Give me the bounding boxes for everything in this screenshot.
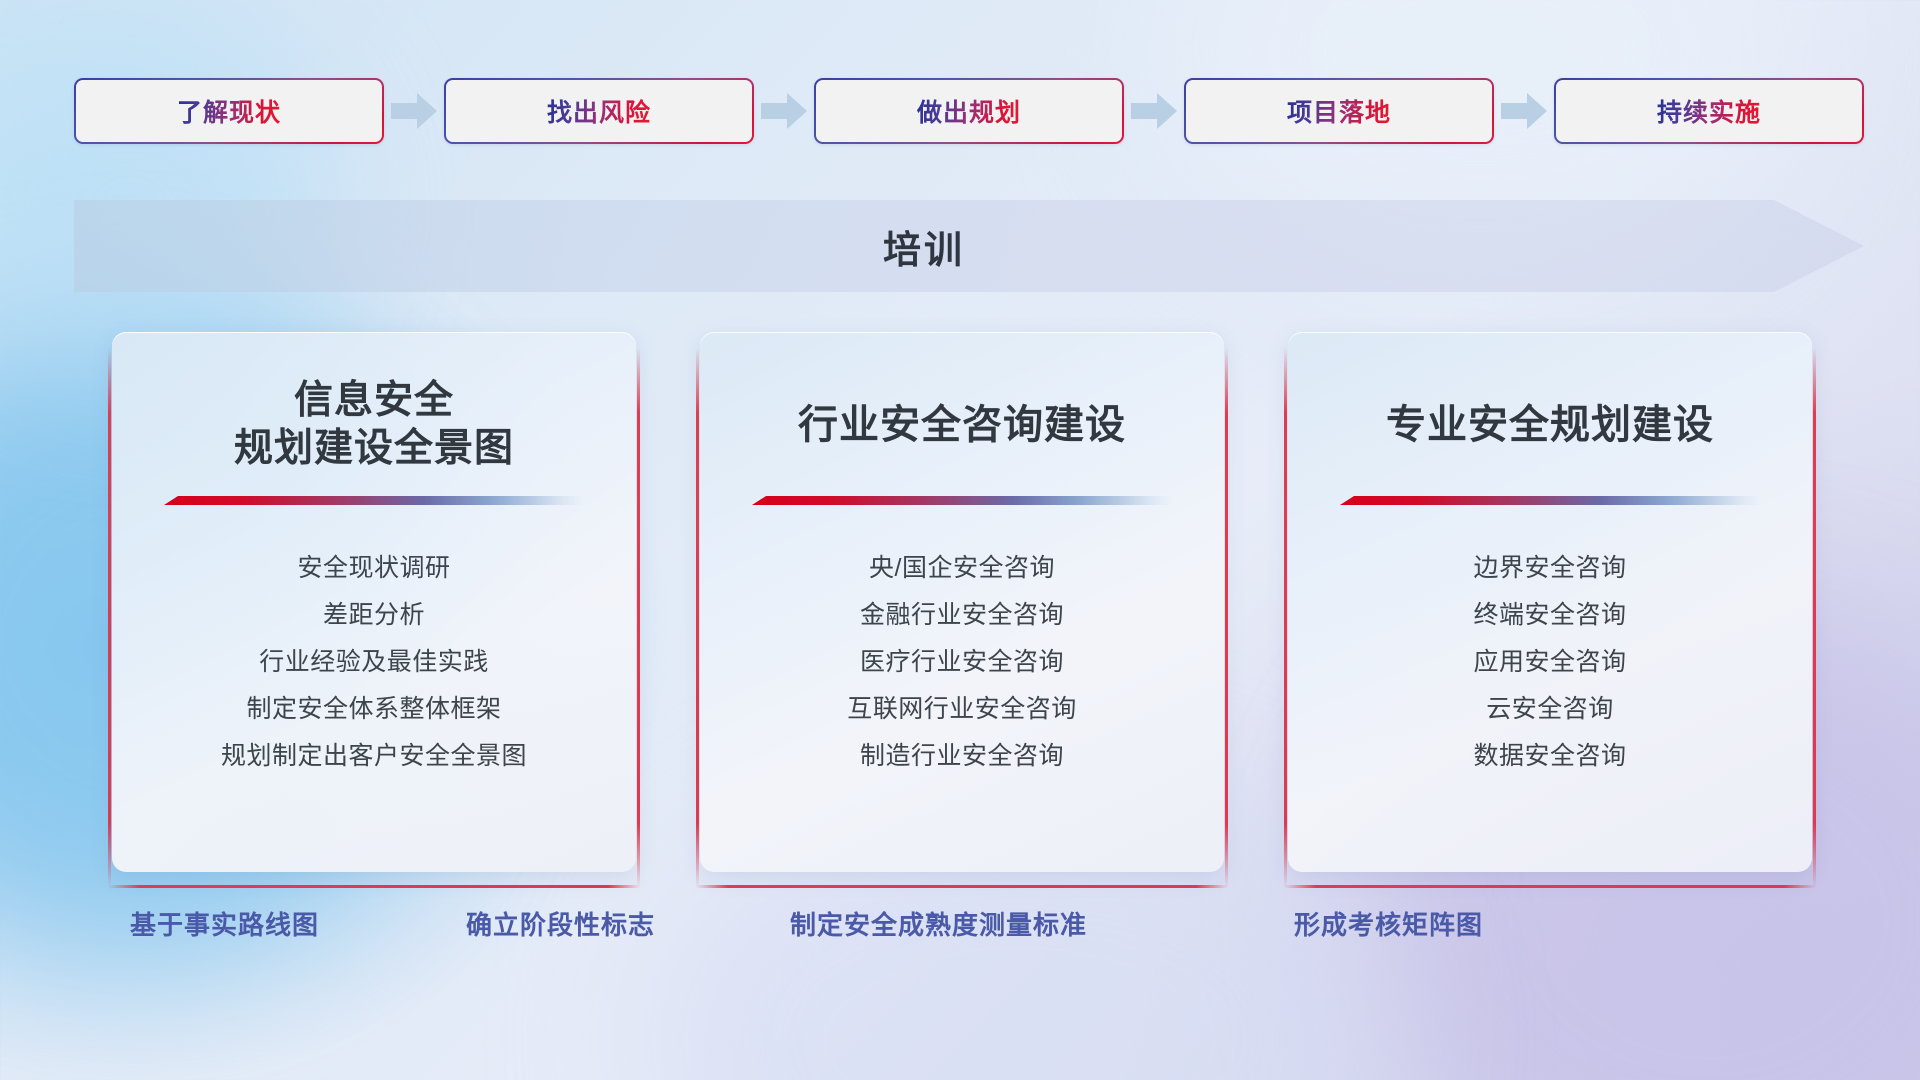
card-3[interactable]: 专业安全规划建设 边界安全咨询 终端安全咨询 应用安全咨询 云安全咨询 数据安全…: [1288, 332, 1812, 872]
card-2-divider: [752, 496, 1172, 505]
list-item: 金融行业安全咨询: [734, 592, 1190, 639]
list-item: 行业经验及最佳实践: [146, 639, 602, 686]
card-3-title-line-1: 专业安全规划建设: [1322, 401, 1778, 450]
caption-3: 制定安全成熟度测量标准: [790, 905, 1087, 942]
step-label-5: 持续实施: [1657, 93, 1761, 129]
step-box-4[interactable]: 项目落地: [1184, 78, 1494, 144]
list-item: 差距分析: [146, 592, 602, 639]
list-item: 制定安全体系整体框架: [146, 686, 602, 733]
list-item: 数据安全咨询: [1322, 733, 1778, 780]
arrow-right-icon: [1131, 93, 1177, 129]
card-1-title-line-1: 信息安全: [146, 377, 602, 425]
card-1-title-line-2: 规划建设全景图: [146, 425, 602, 473]
step-arrow-2: [754, 93, 814, 129]
arrow-right-icon: [1501, 93, 1547, 129]
card-3-list: 边界安全咨询 终端安全咨询 应用安全咨询 云安全咨询 数据安全咨询: [1322, 545, 1778, 780]
list-item: 规划制定出客户安全全景图: [146, 733, 602, 780]
step-box-5[interactable]: 持续实施: [1554, 78, 1864, 144]
caption-row: 基于事实路线图 确立阶段性标志 制定安全成熟度测量标准 形成考核矩阵图: [0, 905, 1920, 955]
step-box-2[interactable]: 找出风险: [444, 78, 754, 144]
card-3-divider: [1340, 496, 1760, 505]
list-item: 安全现状调研: [146, 545, 602, 592]
card-2-title: 行业安全咨询建设: [734, 372, 1190, 478]
list-item: 医疗行业安全咨询: [734, 639, 1190, 686]
card-2[interactable]: 行业安全咨询建设 央/国企安全咨询 金融行业安全咨询 医疗行业安全咨询 互联网行…: [700, 332, 1224, 872]
step-arrow-1: [384, 93, 444, 129]
step-arrow-3: [1124, 93, 1184, 129]
training-banner: 培训: [74, 200, 1864, 292]
step-label-3: 做出规划: [917, 93, 1021, 129]
caption-4: 形成考核矩阵图: [1294, 905, 1483, 942]
card-1-bottom-edge: [108, 885, 640, 888]
card-3-title: 专业安全规划建设: [1322, 372, 1778, 478]
list-item: 应用安全咨询: [1322, 639, 1778, 686]
arrow-right-icon: [391, 93, 437, 129]
list-item: 云安全咨询: [1322, 686, 1778, 733]
banner-title: 培训: [74, 200, 1774, 292]
step-label-2: 找出风险: [547, 93, 651, 129]
caption-2: 确立阶段性标志: [466, 905, 655, 942]
list-item: 央/国企安全咨询: [734, 545, 1190, 592]
arrow-right-icon: [761, 93, 807, 129]
step-box-3[interactable]: 做出规划: [814, 78, 1124, 144]
process-steps: 了解现状 找出风险 做出规划 项目落地 持续实施: [74, 78, 1864, 144]
step-box-1[interactable]: 了解现状: [74, 78, 384, 144]
list-item: 边界安全咨询: [1322, 545, 1778, 592]
step-label-1: 了解现状: [177, 93, 281, 129]
step-label-4: 项目落地: [1287, 93, 1391, 129]
card-group: 信息安全 规划建设全景图 安全现状调研 差距分析 行业经验及最佳实践 制定安全体…: [112, 332, 1812, 872]
card-1-list: 安全现状调研 差距分析 行业经验及最佳实践 制定安全体系整体框架 规划制定出客户…: [146, 545, 602, 780]
list-item: 互联网行业安全咨询: [734, 686, 1190, 733]
card-3-bottom-edge: [1284, 885, 1816, 888]
card-1-divider: [164, 496, 584, 505]
card-2-title-line-1: 行业安全咨询建设: [734, 401, 1190, 450]
card-2-list: 央/国企安全咨询 金融行业安全咨询 医疗行业安全咨询 互联网行业安全咨询 制造行…: [734, 545, 1190, 780]
caption-1: 基于事实路线图: [130, 905, 319, 942]
card-1-title: 信息安全 规划建设全景图: [146, 372, 602, 478]
list-item: 制造行业安全咨询: [734, 733, 1190, 780]
card-1[interactable]: 信息安全 规划建设全景图 安全现状调研 差距分析 行业经验及最佳实践 制定安全体…: [112, 332, 636, 872]
list-item: 终端安全咨询: [1322, 592, 1778, 639]
card-2-bottom-edge: [696, 885, 1228, 888]
step-arrow-4: [1494, 93, 1554, 129]
